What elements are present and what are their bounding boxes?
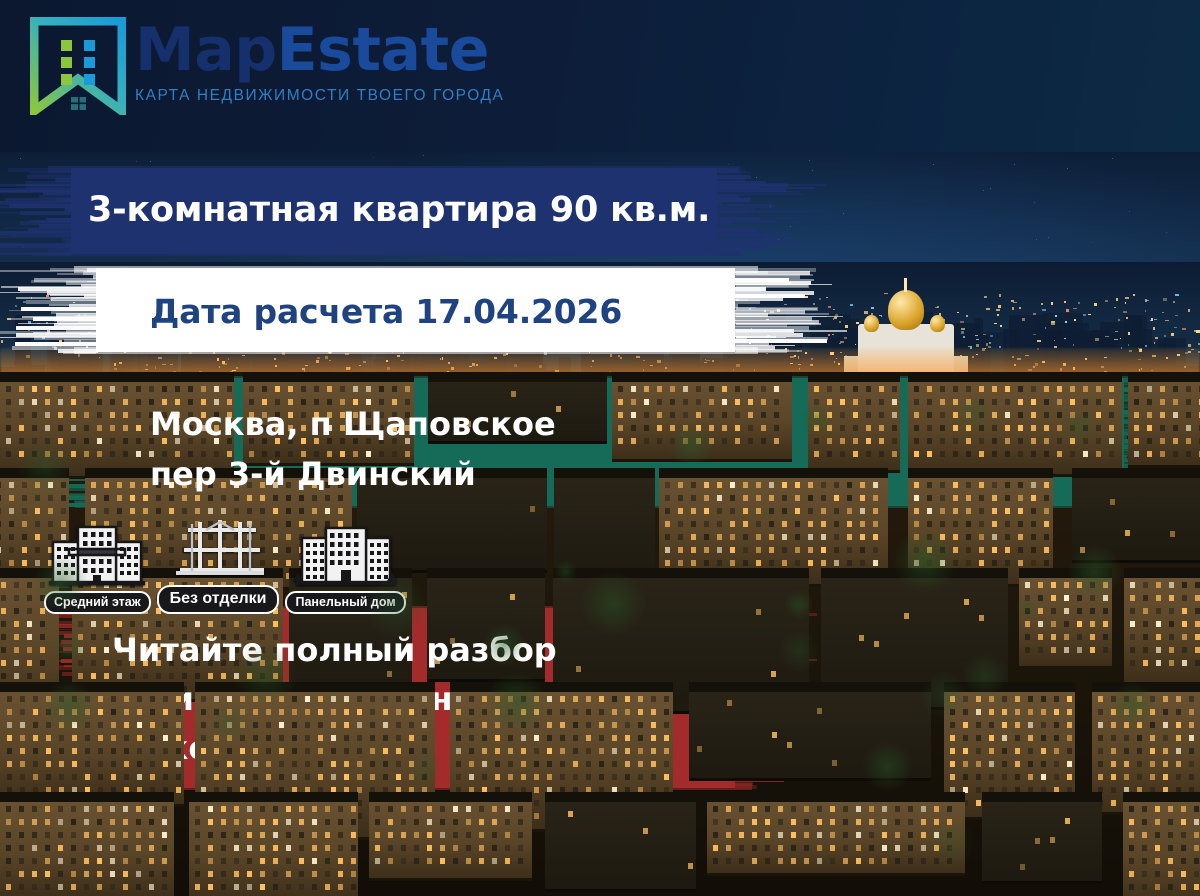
- calculation-date-text: Дата расчета 17.04.2026: [150, 292, 770, 331]
- promo-card: MapEstate КАРТА НЕДВИЖИМОСТИ ТВОЕГО ГОРО…: [0, 0, 1200, 896]
- brand-name-part2: Estate: [277, 15, 489, 85]
- feature-label: Без отделки: [157, 585, 280, 614]
- bare-frame-scaffold-icon: [162, 512, 274, 589]
- brand-wordmark: MapEstate КАРТА НЕДВИЖИМОСТИ ТВОЕГО ГОРО…: [135, 20, 504, 105]
- cta-line-1: Читайте полный разбор: [112, 626, 752, 675]
- brand-logo-icon: [30, 17, 126, 115]
- feature-badges: Средний этаж: [44, 512, 406, 614]
- header-bar: MapEstate КАРТА НЕДВИЖИМОСТИ ТВОЕГО ГОРО…: [0, 0, 1200, 152]
- brand-tagline: КАРТА НЕДВИЖИМОСТИ ТВОЕГО ГОРОДА: [135, 87, 504, 105]
- property-title-text: 3-комнатная квартира 90 кв.м.: [88, 190, 788, 230]
- feature-no-finishing: Без отделки: [157, 512, 280, 614]
- brand-name: MapEstate: [135, 20, 504, 80]
- brand-name-part1: Map: [135, 15, 277, 85]
- address-line-2: пер 3-й Двинский: [150, 450, 1050, 500]
- address-line-1: Москва, п Щаповское: [150, 400, 1050, 450]
- address-text-block: Москва, п Щаповское пер 3-й Двинский: [150, 400, 1050, 499]
